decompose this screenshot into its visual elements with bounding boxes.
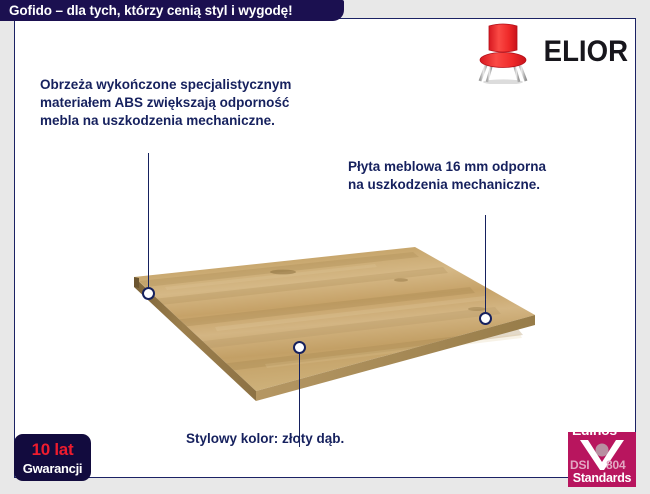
warranty-years: 10 lat — [14, 441, 91, 458]
edinos-name: Edinos — [572, 422, 617, 438]
annotation-edge-abs: Obrzeża wykończone specjalistycznym mate… — [40, 76, 291, 130]
red-chair-icon — [472, 20, 534, 84]
annotation-color: Stylowy kolor: złoty dąb. — [186, 430, 344, 448]
annotation-board-thickness: Płyta meblowa 16 mm odporna na uszkodzen… — [348, 158, 546, 194]
leader-line-edge — [148, 153, 149, 293]
banner-text: Gofido – dla tych, którzy cenią styl i w… — [9, 3, 292, 18]
brand-name: ELIOR — [544, 37, 628, 67]
marker-dot-edge — [142, 287, 155, 300]
warranty-badge: 10 lat Gwarancji — [14, 434, 91, 481]
edinos-number: 804 — [606, 458, 625, 472]
header-banner: Gofido – dla tych, którzy cenią styl i w… — [0, 0, 344, 21]
brand-logo: ELIOR — [472, 20, 632, 84]
marker-dot-board — [479, 312, 492, 325]
edinos-dsi-label: DSI — [570, 458, 589, 472]
warranty-word: Gwarancji — [14, 462, 91, 475]
marker-dot-color — [293, 341, 306, 354]
edinos-standards-badge: Edinos DSI 804 Standards — [560, 422, 636, 487]
edinos-standards-label: Standards — [568, 471, 636, 485]
leader-line-board — [485, 215, 486, 318]
